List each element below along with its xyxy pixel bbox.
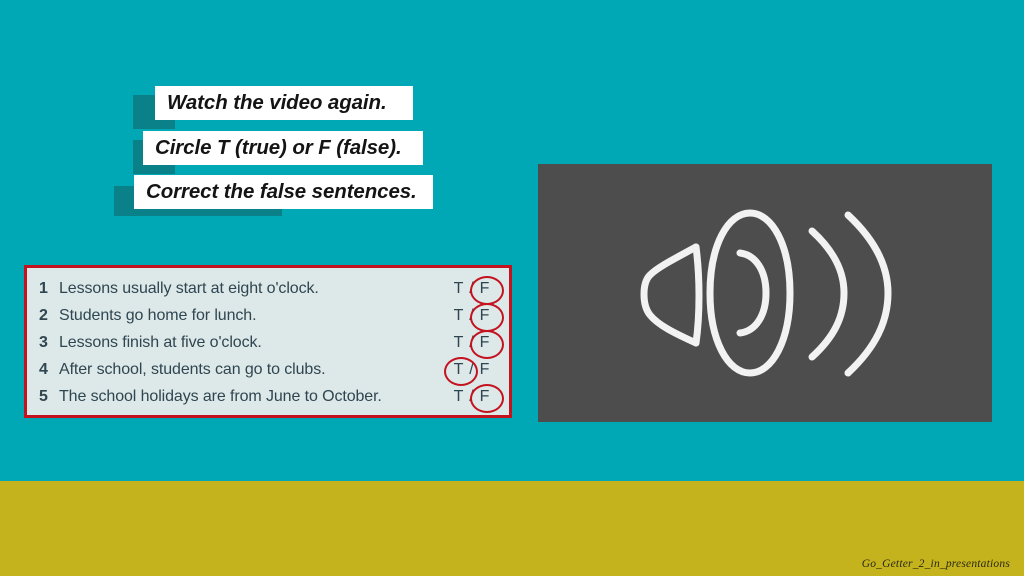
worksheet-row-answer: T / F <box>450 361 493 379</box>
worksheet-row-sentence: Lessons finish at five o'clock. <box>59 334 262 352</box>
slide-canvas: Watch the video again. Circle T (true) o… <box>0 0 1024 576</box>
worksheet-row: 2 Students go home for lunch. T / F <box>27 302 509 329</box>
answer-option-false[interactable]: F <box>476 280 493 298</box>
answer-option-false[interactable]: F <box>476 361 493 379</box>
answer-separator: / <box>467 388 476 406</box>
worksheet-row-sentence: Lessons usually start at eight o'clock. <box>59 280 319 298</box>
worksheet-row: 4 After school, students can go to clubs… <box>27 356 509 383</box>
answer-separator: / <box>467 280 476 298</box>
worksheet-row: 1 Lessons usually start at eight o'clock… <box>27 275 509 302</box>
video-media-panel[interactable] <box>538 164 992 422</box>
answer-option-true[interactable]: T <box>450 361 467 379</box>
answer-option-true[interactable]: T <box>450 280 467 298</box>
instruction-text: Watch the video again. <box>167 91 387 115</box>
worksheet-row-answer: T / F <box>450 388 493 406</box>
answer-option-true[interactable]: T <box>450 388 467 406</box>
footer-credit-text: Go_Getter_2_in_presentations <box>862 558 1010 570</box>
instruction-box: Watch the video again. <box>155 86 413 120</box>
speaker-volume-icon <box>600 193 930 393</box>
answer-option-false[interactable]: F <box>476 307 493 325</box>
footer-band: Go_Getter_2_in_presentations <box>0 481 1024 576</box>
worksheet-row: 3 Lessons finish at five o'clock. T / F <box>27 329 509 356</box>
instruction-box: Circle T (true) or F (false). <box>143 131 423 165</box>
worksheet-row-number: 4 <box>39 361 59 379</box>
worksheet-row-number: 2 <box>39 307 59 325</box>
instruction-text: Circle T (true) or F (false). <box>155 136 402 160</box>
answer-option-true[interactable]: T <box>450 334 467 352</box>
worksheet-row-sentence: After school, students can go to clubs. <box>59 361 325 379</box>
worksheet-row-sentence: The school holidays are from June to Oct… <box>59 388 382 406</box>
worksheet-row-number: 1 <box>39 280 59 298</box>
worksheet-row: 5 The school holidays are from June to O… <box>27 383 509 410</box>
worksheet-row-sentence: Students go home for lunch. <box>59 307 256 325</box>
worksheet-row-answer: T / F <box>450 334 493 352</box>
instruction-text: Correct the false sentences. <box>146 180 417 204</box>
worksheet-row-answer: T / F <box>450 280 493 298</box>
answer-separator: / <box>467 307 476 325</box>
answer-separator: / <box>467 361 476 379</box>
worksheet-row-answer: T / F <box>450 307 493 325</box>
instruction-box: Correct the false sentences. <box>134 175 433 209</box>
answer-option-true[interactable]: T <box>450 307 467 325</box>
worksheet-row-number: 3 <box>39 334 59 352</box>
answer-option-false[interactable]: F <box>476 334 493 352</box>
answer-option-false[interactable]: F <box>476 388 493 406</box>
answer-separator: / <box>467 334 476 352</box>
worksheet-panel: 1 Lessons usually start at eight o'clock… <box>24 265 512 418</box>
worksheet-row-number: 5 <box>39 388 59 406</box>
